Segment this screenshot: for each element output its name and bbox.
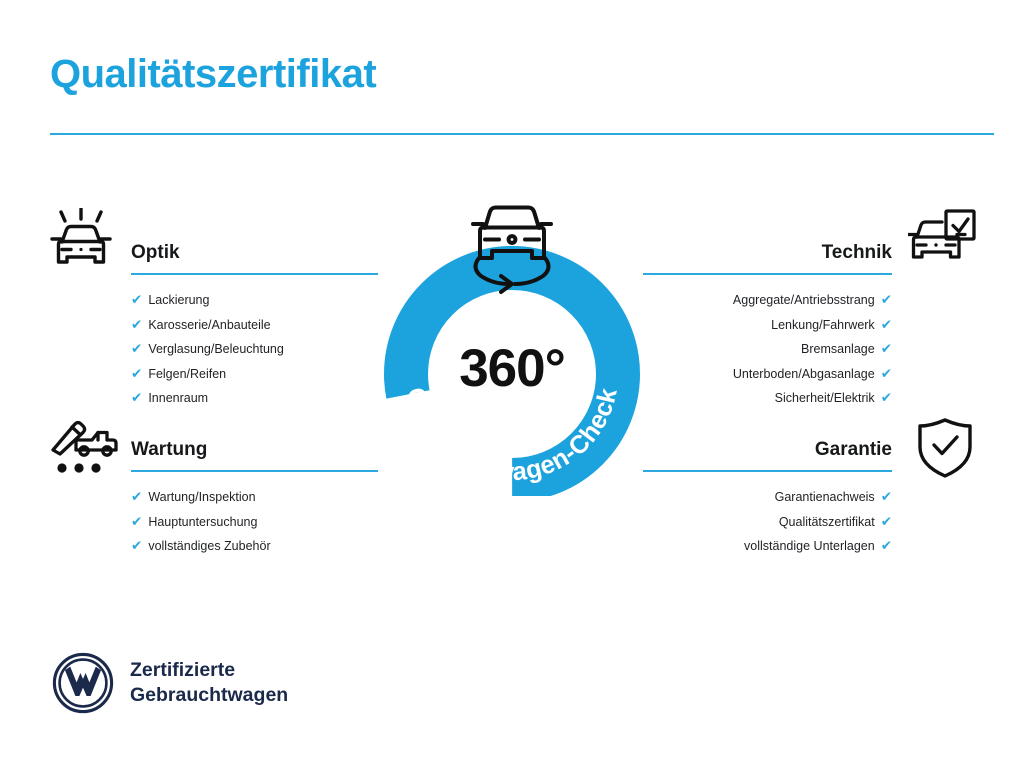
check-icon: ✔ [881, 341, 892, 356]
list-item: Lenkung/Fahrwerk✔ [643, 313, 892, 338]
list-item: ✔Lackierung [131, 288, 378, 313]
section-divider-wartung [131, 470, 378, 472]
list-item: ✔Innenraum [131, 386, 378, 411]
footer-brand: Zertifizierte Gebrauchtwagen [52, 652, 288, 714]
page-title: Qualitätszertifikat [50, 52, 376, 96]
checklist-wartung: ✔Wartung/Inspektion ✔Hauptuntersuchung ✔… [131, 485, 378, 559]
list-item-label: vollständige Unterlagen [744, 539, 875, 553]
list-item-label: Hauptuntersuchung [148, 515, 257, 529]
list-item-label: Aggregate/Antriebsstrang [733, 293, 875, 307]
list-item: ✔vollständiges Zubehör [131, 534, 378, 559]
footer-brand-line1: Zertifizierte [130, 658, 288, 683]
list-item-label: Innenraum [148, 391, 208, 405]
shield-check-icon [916, 417, 974, 484]
check-icon: ✔ [131, 366, 142, 381]
section-heading-garantie: Garantie [643, 440, 892, 459]
car-wrench-service-icon [48, 414, 118, 481]
list-item-label: vollständiges Zubehör [148, 539, 270, 553]
list-item: Garantienachweis✔ [643, 485, 892, 510]
list-item-label: Sicherheit/Elektrik [775, 391, 875, 405]
list-item: Bremsanlage✔ [643, 337, 892, 362]
list-item: vollständige Unterlagen✔ [643, 534, 892, 559]
footer-brand-text: Zertifizierte Gebrauchtwagen [130, 658, 288, 708]
check-icon: ✔ [881, 514, 892, 529]
car-shine-icon [48, 208, 114, 279]
check-icon: ✔ [881, 366, 892, 381]
list-item-label: Garantienachweis [775, 490, 875, 504]
car-checkbox-icon [908, 209, 976, 274]
section-heading-wartung: Wartung [131, 440, 378, 459]
list-item-label: Lenkung/Fahrwerk [771, 318, 875, 332]
check-icon: ✔ [131, 341, 142, 356]
list-item-label: Wartung/Inspektion [148, 490, 255, 504]
section-divider-optik [131, 273, 378, 275]
section-optik: Optik ✔Lackierung ✔Karosserie/Anbauteile… [131, 243, 378, 411]
list-item-label: Felgen/Reifen [148, 367, 226, 381]
list-item: ✔Wartung/Inspektion [131, 485, 378, 510]
list-item: ✔Felgen/Reifen [131, 362, 378, 387]
section-garantie: Garantie Garantienachweis✔ Qualitätszert… [643, 440, 892, 559]
check-icon: ✔ [881, 317, 892, 332]
check-icon: ✔ [131, 489, 142, 504]
check-icon: ✔ [881, 538, 892, 553]
list-item: ✔Hauptuntersuchung [131, 510, 378, 535]
car-rotation-360-icon [459, 196, 565, 305]
badge-360-gebrauchtwagen-check: Gebrauchtwagen-Check 360° [376, 196, 648, 496]
check-icon: ✔ [881, 489, 892, 504]
list-item: Qualitätszertifikat✔ [643, 510, 892, 535]
list-item-label: Karosserie/Anbauteile [148, 318, 270, 332]
checklist-technik: Aggregate/Antriebsstrang✔ Lenkung/Fahrwe… [643, 288, 892, 411]
list-item: Sicherheit/Elektrik✔ [643, 386, 892, 411]
title-divider [50, 133, 994, 135]
list-item-label: Bremsanlage [801, 342, 875, 356]
section-heading-optik: Optik [131, 243, 378, 262]
check-icon: ✔ [131, 390, 142, 405]
section-divider-technik [643, 273, 892, 275]
check-icon: ✔ [881, 292, 892, 307]
list-item: Unterboden/Abgasanlage✔ [643, 362, 892, 387]
section-technik: Technik Aggregate/Antriebsstrang✔ Lenkun… [643, 243, 892, 411]
list-item-label: Qualitätszertifikat [779, 515, 875, 529]
list-item-label: Verglasung/Beleuchtung [148, 342, 284, 356]
check-icon: ✔ [131, 292, 142, 307]
list-item-label: Lackierung [148, 293, 209, 307]
check-icon: ✔ [131, 317, 142, 332]
check-icon: ✔ [131, 538, 142, 553]
list-item: Aggregate/Antriebsstrang✔ [643, 288, 892, 313]
checklist-garantie: Garantienachweis✔ Qualitätszertifikat✔ v… [643, 485, 892, 559]
badge-value: 360° [376, 342, 648, 395]
check-icon: ✔ [881, 390, 892, 405]
list-item: ✔Verglasung/Beleuchtung [131, 337, 378, 362]
volkswagen-logo [52, 652, 114, 714]
checklist-optik: ✔Lackierung ✔Karosserie/Anbauteile ✔Verg… [131, 288, 378, 411]
section-heading-technik: Technik [643, 243, 892, 262]
list-item: ✔Karosserie/Anbauteile [131, 313, 378, 338]
section-divider-garantie [643, 470, 892, 472]
footer-brand-line2: Gebrauchtwagen [130, 683, 288, 708]
list-item-label: Unterboden/Abgasanlage [733, 367, 875, 381]
section-wartung: Wartung ✔Wartung/Inspektion ✔Hauptunters… [131, 440, 378, 559]
check-icon: ✔ [131, 514, 142, 529]
